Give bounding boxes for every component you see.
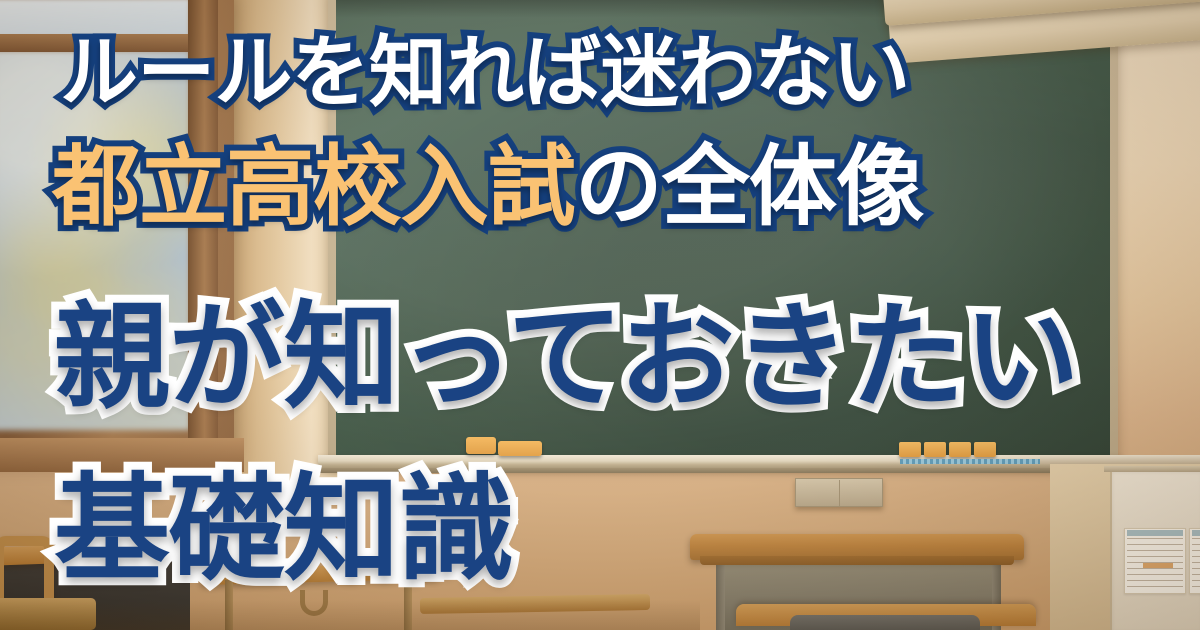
headline-highlight-term: 都立高校入試 bbox=[52, 135, 575, 238]
banner-image: ルールを知れば迷わない 都立高校入試の全体像 親が知っておきたい 基礎知識 bbox=[0, 0, 1200, 630]
headline-line-2-rest: の全体像 bbox=[575, 135, 923, 238]
headline-line-1: ルールを知れば迷わない bbox=[60, 34, 909, 112]
headline-line-2: 都立高校入試の全体像 bbox=[52, 143, 923, 231]
subhead-line-2: 基礎知識 bbox=[54, 472, 513, 588]
subhead-line-1: 親が知っておきたい bbox=[54, 300, 1078, 416]
headline-text-layer: ルールを知れば迷わない 都立高校入試の全体像 親が知っておきたい 基礎知識 bbox=[0, 0, 1200, 630]
